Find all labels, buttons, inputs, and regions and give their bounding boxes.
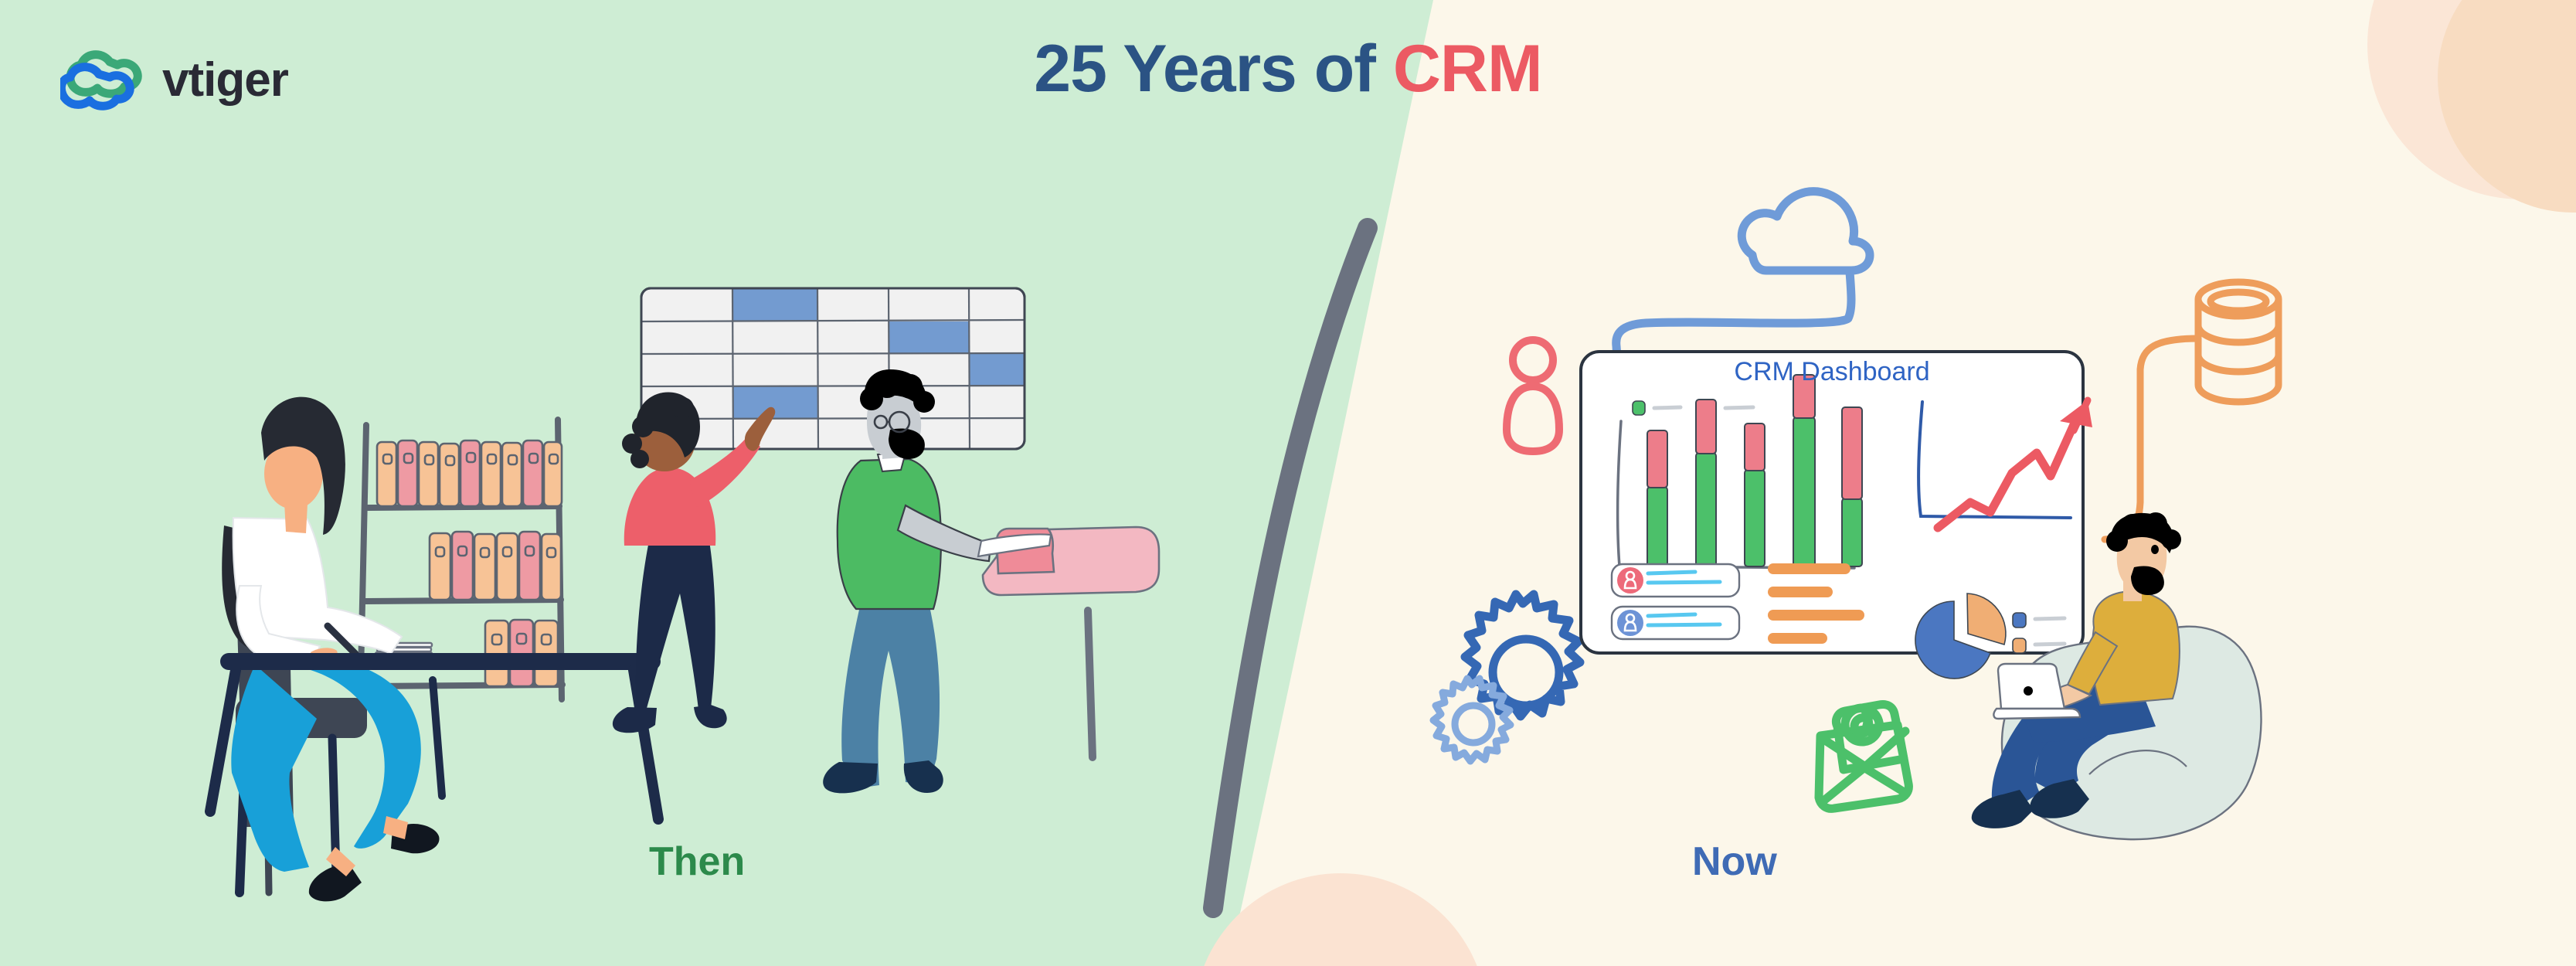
grid-cell-r1c2: [732, 289, 817, 321]
poster-artwork: [0, 0, 2576, 966]
binder-row-2: [430, 532, 561, 600]
filing-tray-stand: [1088, 611, 1093, 757]
laptop-screen: [1998, 664, 2065, 709]
laptop-base: [1993, 709, 2080, 719]
poster-canvas: vtiger 25 Years of CRM Then Now CRM Dash…: [0, 0, 2576, 966]
page-title: 25 Years of CRM: [0, 31, 2576, 107]
page-title-part2: CRM: [1393, 32, 1542, 106]
dashboard-card: [1581, 352, 2092, 679]
grid-cell-r2c4: [889, 321, 969, 354]
now-caption: Now: [1692, 838, 1777, 885]
grid-cell-r4c2: [732, 386, 817, 419]
then-caption: Then: [649, 838, 745, 885]
grid-cell-r3c5: [969, 354, 1024, 386]
contact-card-2: [1612, 607, 1739, 639]
binder-row-1: [377, 440, 562, 506]
page-title-part1: 25 Years of: [1034, 32, 1393, 106]
laptop-logo: [2024, 686, 2033, 696]
dashboard-title: CRM Dashboard: [1581, 357, 2083, 387]
contact-card-1: [1612, 564, 1739, 597]
